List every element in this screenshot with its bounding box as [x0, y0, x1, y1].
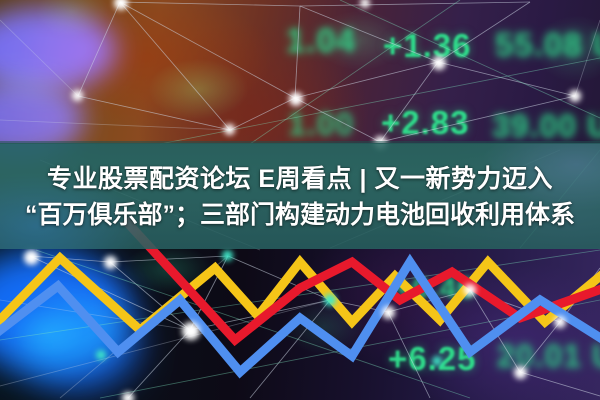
headline-text: 专业股票配资论坛 E周看点 | 又一新势力迈入 “百万俱乐部”；三部门构建动力电… [0, 148, 600, 246]
news-banner-image: 1.04 +1.36 55.08 U +2.83 39.00 U 1.00 +0… [0, 0, 600, 400]
chart-line-blue [0, 262, 600, 372]
headline-line-1: 专业股票配资论坛 E周看点 | 又一新势力迈入 [47, 162, 553, 196]
headline-band-top-edge [0, 141, 600, 144]
headline-line-2: “百万俱乐部”；三部门构建动力电池回收利用体系 [25, 198, 575, 232]
